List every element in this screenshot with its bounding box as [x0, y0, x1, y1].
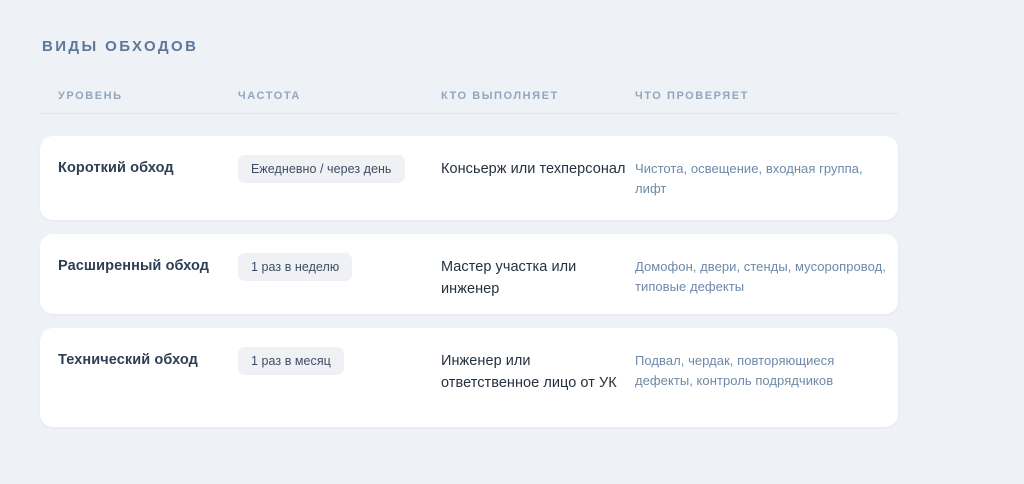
column-header-performer: Кто выполняет — [441, 90, 559, 102]
row-level-cell: Короткий обход — [58, 158, 230, 179]
row-performer-label: Инженер или ответственное лицо от УК — [441, 353, 617, 391]
column-header-frequency: Частота — [238, 90, 301, 102]
table-body: Короткий обход Ежедневно / через день Ко… — [40, 136, 898, 427]
row-checks-label: Чистота, освещение, входная группа, лифт — [635, 161, 863, 196]
row-checks-cell: Домофон, двери, стенды, мусоропровод, ти… — [635, 257, 890, 297]
row-frequency-cell: Ежедневно / через день — [238, 155, 434, 183]
row-performer-label: Мастер участка или инженер — [441, 259, 576, 297]
row-checks-label: Подвал, чердак, повторяющиеся дефекты, к… — [635, 353, 834, 388]
row-performer-label: Консьерж или техперсонал — [441, 161, 626, 177]
row-level-label: Короткий обход — [58, 160, 174, 176]
column-header-checks: Что проверяет — [635, 90, 749, 102]
row-performer-cell: Консьерж или техперсонал — [441, 158, 631, 180]
frequency-badge: 1 раз в неделю — [238, 253, 352, 281]
table-row[interactable]: Технический обход 1 раз в месяц Инженер … — [40, 328, 898, 427]
row-level-cell: Расширенный обход — [58, 256, 230, 277]
row-frequency-cell: 1 раз в месяц — [238, 347, 434, 375]
frequency-badge: 1 раз в месяц — [238, 347, 344, 375]
table-row[interactable]: Расширенный обход 1 раз в неделю Мастер … — [40, 234, 898, 314]
row-frequency-cell: 1 раз в неделю — [238, 253, 434, 281]
column-header-level: Уровень — [58, 90, 123, 102]
table-row[interactable]: Короткий обход Ежедневно / через день Ко… — [40, 136, 898, 220]
row-level-label: Технический обход — [58, 352, 198, 368]
row-level-label: Расширенный обход — [58, 258, 209, 274]
page-root: Виды обходов Уровень Частота Кто выполня… — [0, 0, 1024, 484]
page-title: Виды обходов — [42, 38, 198, 55]
row-performer-cell: Мастер участка или инженер — [441, 256, 631, 300]
frequency-badge: Ежедневно / через день — [238, 155, 405, 183]
row-level-cell: Технический обход — [58, 350, 230, 371]
row-checks-cell: Подвал, чердак, повторяющиеся дефекты, к… — [635, 351, 890, 391]
row-checks-cell: Чистота, освещение, входная группа, лифт — [635, 159, 890, 199]
row-performer-cell: Инженер или ответственное лицо от УК — [441, 350, 631, 394]
table-header-row: Уровень Частота Кто выполняет Что провер… — [40, 88, 898, 114]
row-checks-label: Домофон, двери, стенды, мусоропровод, ти… — [635, 259, 886, 294]
